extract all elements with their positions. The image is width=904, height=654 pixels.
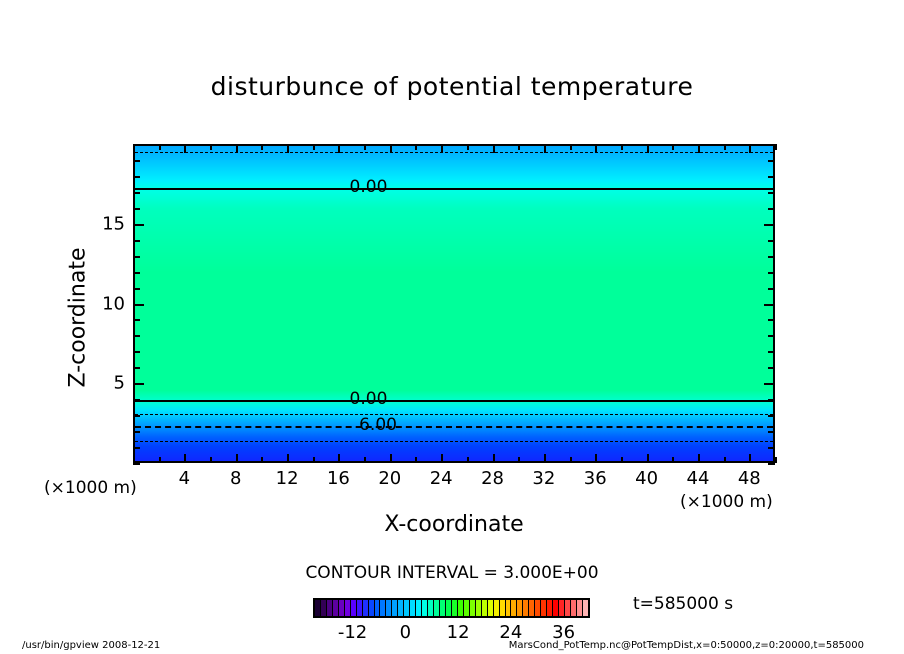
x-axis-tick-label: 20 xyxy=(378,468,401,489)
colorbar-tick-label: 0 xyxy=(400,622,411,643)
footer-dataset-info: MarsCond_PotTemp.nc@PotTempDist,x=0:5000… xyxy=(509,640,864,651)
contour-label: 0.00 xyxy=(346,391,392,407)
x-axis-title: X-coordinate xyxy=(133,512,775,537)
x-axis-tick-label: 36 xyxy=(584,468,607,489)
x-axis-tick-label: 4 xyxy=(179,468,190,489)
y-axis-title: Z-coordinate xyxy=(66,198,91,438)
x-axis-tick-label: 12 xyxy=(276,468,299,489)
x-axis-tick-label: 48 xyxy=(738,468,761,489)
contour-line xyxy=(135,441,773,442)
x-axis-tick xyxy=(775,457,777,463)
x-axis-tick-label: 24 xyxy=(430,468,453,489)
colorbar[interactable] xyxy=(313,598,590,618)
time-label: t=585000 s xyxy=(633,594,733,614)
contour-line xyxy=(135,188,773,190)
contour-interval-label: CONTOUR INTERVAL = 3.000E+00 xyxy=(0,563,904,583)
x-axis-tick-label: 28 xyxy=(481,468,504,489)
y-axis-tick xyxy=(768,463,775,465)
colorbar-tick-label: -12 xyxy=(338,622,367,643)
x-axis-tick-label: 16 xyxy=(327,468,350,489)
page-title: disturbunce of potential temperature xyxy=(0,72,904,101)
contour-line xyxy=(135,426,773,428)
x-axis-tick-label: 40 xyxy=(635,468,658,489)
contour-label: 0.00 xyxy=(346,179,392,195)
y-axis-units: (×1000 m) xyxy=(44,478,137,498)
contour-label: 6.00 xyxy=(355,417,401,433)
colorbar-tick-label: 12 xyxy=(447,622,470,643)
contour-line xyxy=(135,414,773,415)
footer-command-info: /usr/bin/gpview 2008-12-21 xyxy=(22,640,160,651)
x-axis-tick-label: 32 xyxy=(532,468,555,489)
x-axis-tick-label: 8 xyxy=(230,468,241,489)
contour-plot-area[interactable]: 0.000.006.00 xyxy=(133,144,775,463)
contour-line xyxy=(135,152,773,153)
x-axis-tick xyxy=(775,144,777,150)
x-axis-units: (×1000 m) xyxy=(680,492,773,512)
colorbar-swatch xyxy=(583,600,588,616)
x-axis-tick-label: 44 xyxy=(687,468,710,489)
y-axis-tick xyxy=(133,463,140,465)
contour-line xyxy=(135,400,773,402)
